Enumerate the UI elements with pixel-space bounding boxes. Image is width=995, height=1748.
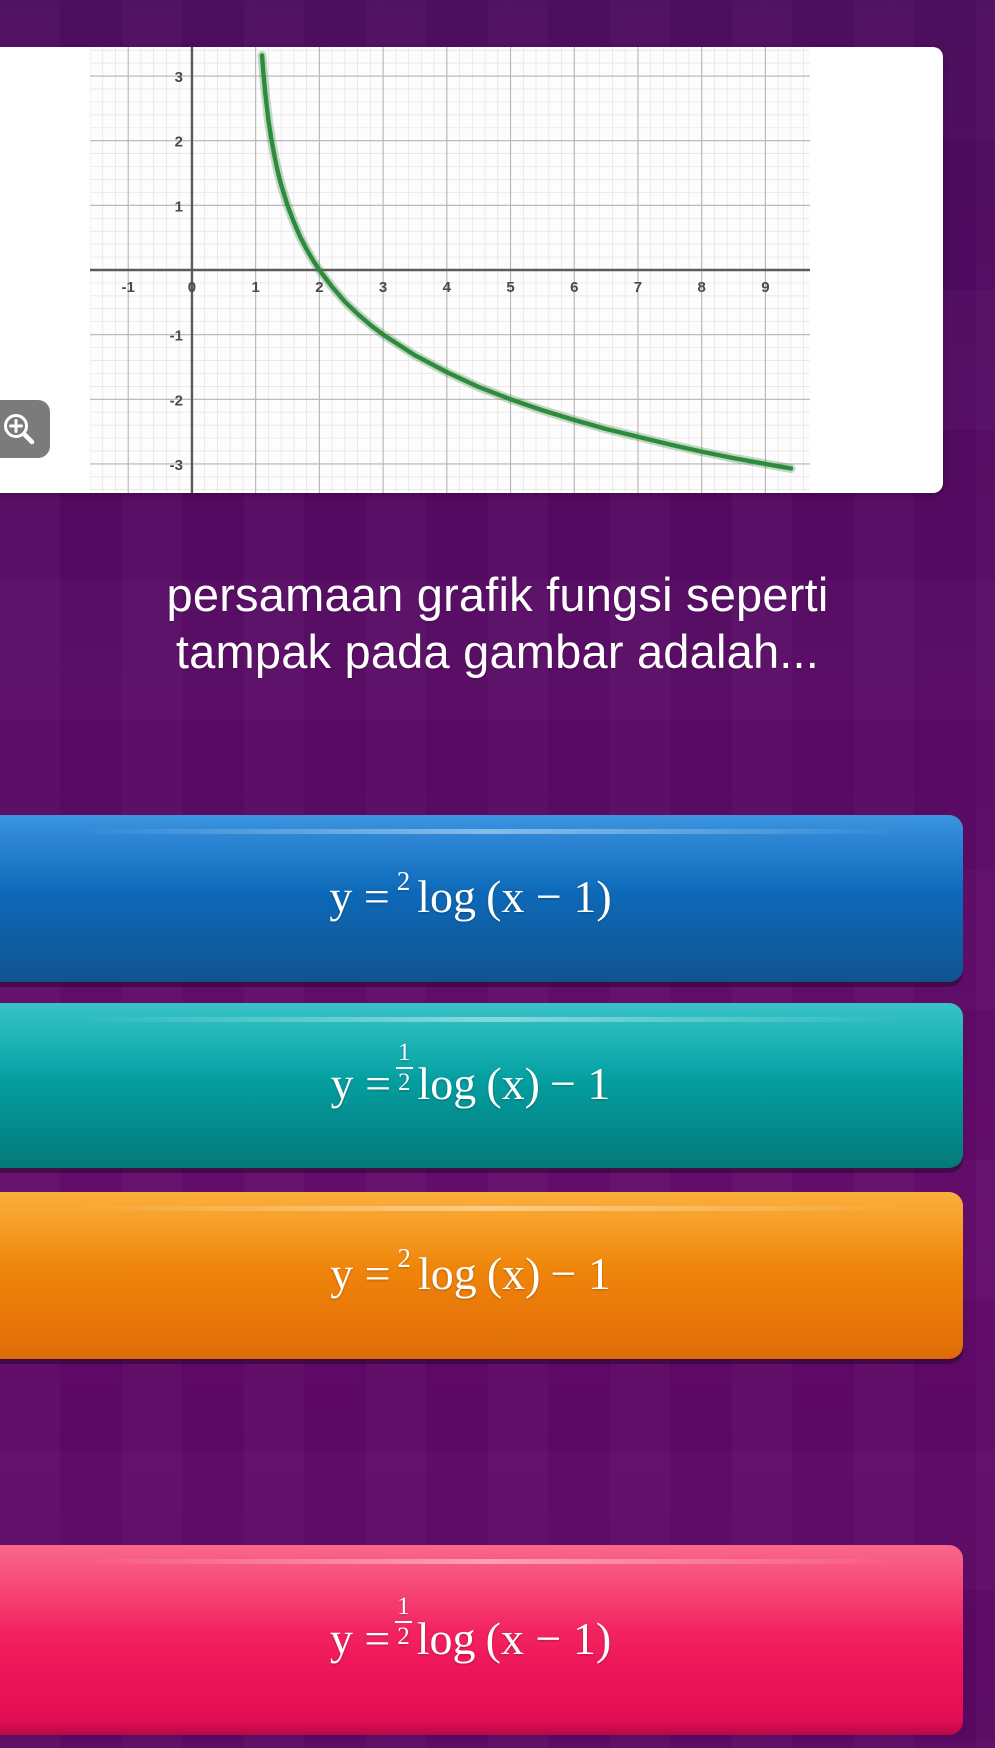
answer-option-2[interactable]: y = 1 2 log (x) − 1: [0, 1003, 963, 1168]
formula-base-superscript: 2: [396, 1244, 414, 1272]
svg-text:2: 2: [315, 279, 323, 296]
formula-base-superscript: 2: [395, 867, 413, 895]
formula-lead: y =: [329, 870, 389, 923]
button-highlight-streak: [77, 829, 904, 834]
formula-argument: (x): [486, 1057, 540, 1110]
svg-text:3: 3: [379, 279, 387, 296]
fraction-denominator: 2: [396, 1070, 413, 1096]
answer-option-2-formula: y = 1 2 log (x) − 1: [331, 1056, 611, 1116]
superscript-value: 2: [395, 867, 413, 895]
svg-text:9: 9: [761, 279, 769, 296]
fraction-denominator: 2: [395, 1624, 412, 1650]
formula-argument: (x − 1): [486, 870, 612, 923]
svg-text:1: 1: [175, 198, 183, 215]
formula-argument: (x − 1): [486, 1612, 612, 1665]
question-image-card: -10123456789-3-2-1123: [0, 47, 943, 493]
svg-text:7: 7: [634, 279, 642, 296]
formula-base-superscript-fraction: 1 2: [395, 1594, 412, 1650]
svg-text:-3: -3: [170, 457, 183, 474]
answer-option-1-formula: y = 2 log (x − 1): [329, 870, 611, 927]
answer-option-4-formula: y = 1 2 log (x − 1): [330, 1610, 611, 1670]
question-line-2: tampak pada gambar adalah...: [0, 623, 995, 680]
svg-text:6: 6: [570, 279, 578, 296]
superscript-value: 2: [396, 1244, 414, 1272]
formula-function: log: [417, 870, 476, 923]
fraction-numerator: 1: [395, 1594, 412, 1620]
svg-text:8: 8: [698, 279, 706, 296]
formula-tail: − 1: [550, 1247, 610, 1300]
question-text: persamaan grafik fungsi seperti tampak p…: [0, 566, 995, 681]
answer-option-4[interactable]: y = 1 2 log (x − 1): [0, 1545, 963, 1735]
formula-lead: y =: [331, 1057, 391, 1110]
svg-text:3: 3: [175, 69, 183, 86]
formula-lead: y =: [330, 1612, 390, 1665]
question-line-1: persamaan grafik fungsi seperti: [0, 566, 995, 623]
formula-argument: (x): [487, 1247, 541, 1300]
formula-function: log: [418, 1247, 477, 1300]
formula-tail: − 1: [550, 1057, 610, 1110]
button-highlight-streak: [77, 1559, 904, 1564]
formula-base-superscript-fraction: 1 2: [396, 1040, 413, 1096]
svg-text:-1: -1: [122, 279, 135, 296]
logarithm-graph: -10123456789-3-2-1123: [90, 47, 810, 493]
fraction-numerator: 1: [396, 1040, 413, 1066]
button-highlight-streak: [77, 1206, 904, 1211]
zoom-image-button[interactable]: [0, 400, 50, 458]
magnifier-plus-icon: [1, 411, 37, 447]
svg-text:2: 2: [175, 134, 183, 151]
answer-option-3[interactable]: y = 2 log (x) − 1: [0, 1192, 963, 1359]
button-highlight-streak: [77, 1017, 904, 1022]
answer-option-1[interactable]: y = 2 log (x − 1): [0, 815, 963, 982]
answer-option-3-formula: y = 2 log (x) − 1: [330, 1247, 611, 1304]
svg-text:0: 0: [188, 279, 196, 296]
formula-function: log: [418, 1057, 477, 1110]
svg-text:4: 4: [443, 279, 452, 296]
svg-text:5: 5: [506, 279, 514, 296]
svg-text:-2: -2: [170, 392, 183, 409]
graph-plot-area: -10123456789-3-2-1123: [90, 47, 810, 493]
svg-text:-1: -1: [170, 328, 183, 345]
formula-function: log: [417, 1612, 476, 1665]
formula-lead: y =: [330, 1247, 390, 1300]
svg-text:1: 1: [251, 279, 259, 296]
